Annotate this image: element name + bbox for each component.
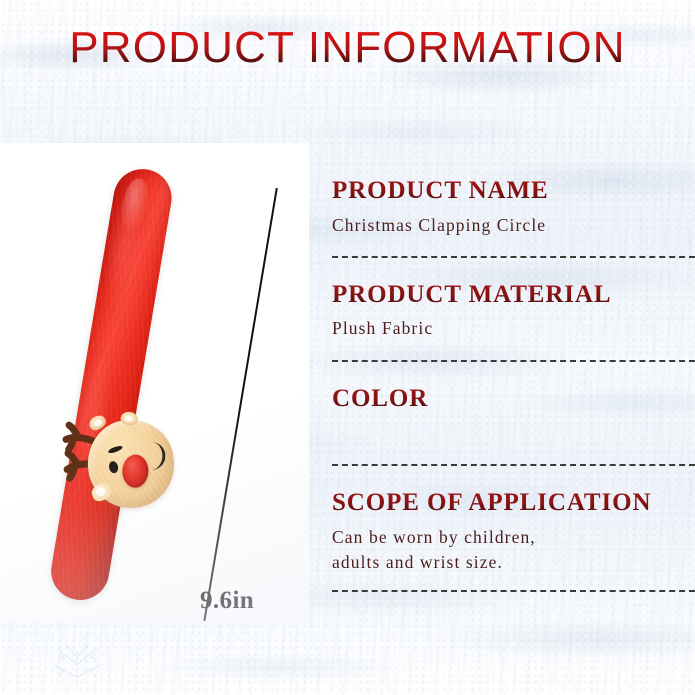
- spec-value: Plush Fabric: [332, 316, 695, 341]
- ear-inner-right: [124, 415, 133, 422]
- spec-color: COLOR: [332, 384, 695, 414]
- spec-scope-of-application: SCOPE OF APPLICATION Can be worn by chil…: [332, 488, 695, 575]
- spacer: [332, 576, 695, 590]
- spacer: [332, 362, 695, 384]
- length-dimension-line: [202, 188, 278, 621]
- spec-heading: PRODUCT NAME: [332, 176, 695, 206]
- spacer: [332, 238, 695, 256]
- ear-inner-left: [93, 418, 103, 427]
- strap-body: [47, 165, 176, 605]
- spacer: [332, 258, 695, 280]
- reindeer-head-ornament: [50, 407, 181, 525]
- length-dimension-label: 9.6in: [200, 587, 254, 615]
- spec-product-material: PRODUCT MATERIAL Plush Fabric: [332, 280, 695, 342]
- spec-value: Can be worn by children, adults and wris…: [332, 525, 695, 576]
- spacer: [332, 466, 695, 488]
- page-title: PRODUCT INFORMATION: [0, 24, 695, 72]
- spec-divider: [332, 590, 695, 592]
- product-specs-list: PRODUCT NAME Christmas Clapping Circle P…: [332, 176, 695, 592]
- strap-plush-texture: [47, 165, 176, 605]
- product-information-page: PRODUCT INFORMATION: [0, 0, 695, 695]
- bracelet-strap: [13, 159, 216, 615]
- spec-heading: PRODUCT MATERIAL: [332, 280, 695, 310]
- spec-product-name: PRODUCT NAME Christmas Clapping Circle: [332, 176, 695, 238]
- spacer: [332, 420, 695, 464]
- spec-heading: SCOPE OF APPLICATION: [332, 488, 695, 518]
- spec-value: Christmas Clapping Circle: [332, 213, 695, 238]
- spec-heading: COLOR: [332, 384, 695, 414]
- spacer: [332, 342, 695, 360]
- product-photo-card: 9.6in 1.2in: [0, 143, 309, 621]
